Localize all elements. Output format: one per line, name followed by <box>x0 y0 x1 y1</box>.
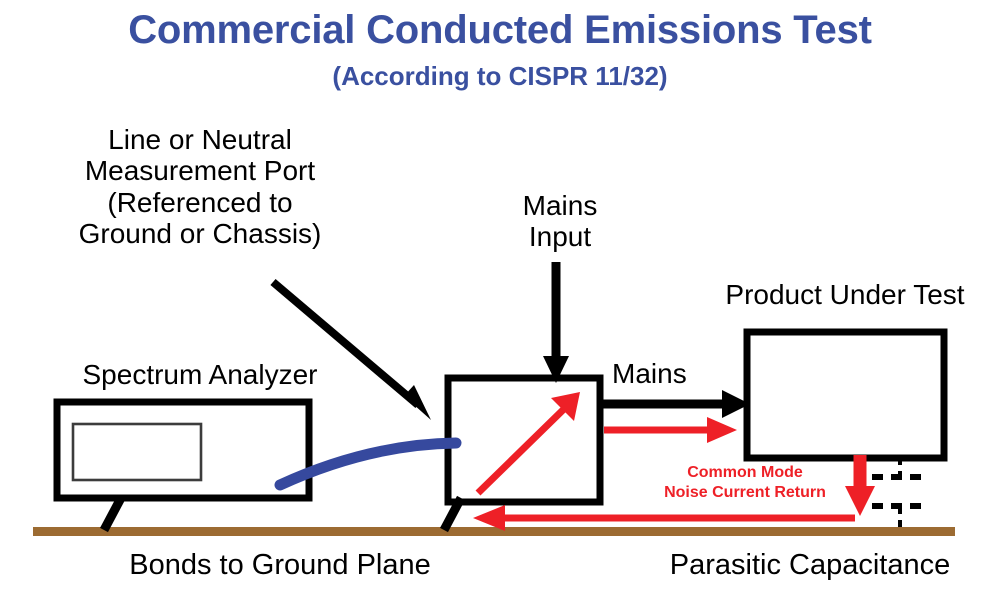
mains-input-arrow <box>543 262 569 383</box>
spectrum-analyzer-screen <box>73 424 201 480</box>
slide-canvas: Commercial Conducted Emissions Test (Acc… <box>0 0 1000 592</box>
mains-arrow <box>600 390 750 418</box>
cm-noise-down-arrow <box>845 455 875 516</box>
arrowhead-down-right-icon <box>404 385 431 420</box>
bond-spectrum-analyzer <box>104 498 121 530</box>
product-under-test-block[interactable] <box>747 332 944 458</box>
diagram-vector-layer <box>0 0 1000 592</box>
cm-noise-forward-arrow <box>604 417 737 443</box>
ground-plane <box>33 527 955 536</box>
arrowhead-down-icon <box>845 486 875 516</box>
parasitic-capacitor <box>872 458 928 531</box>
spectrum-analyzer-block[interactable] <box>57 402 309 498</box>
arrowhead-right-icon <box>707 417 737 443</box>
